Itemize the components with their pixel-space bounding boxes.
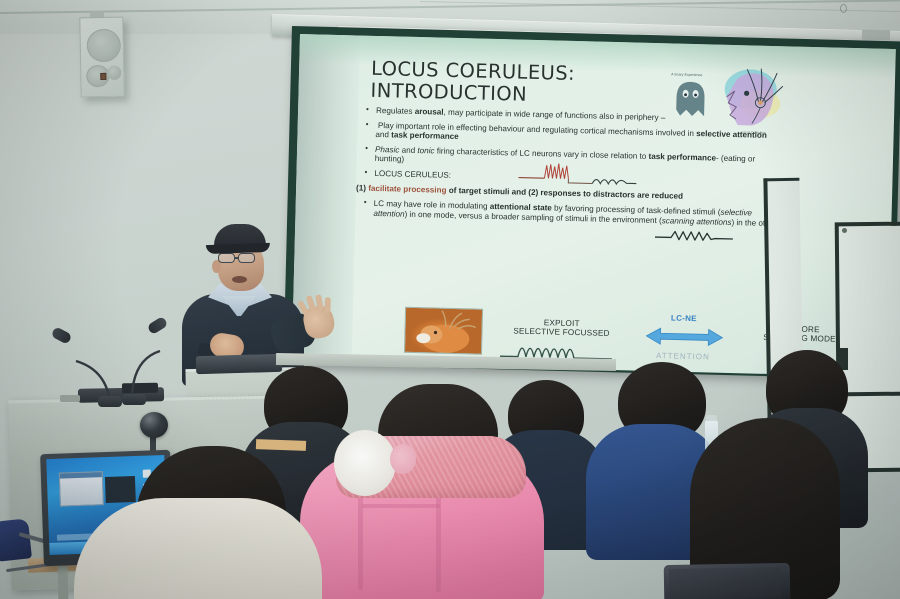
speaker-woofer-icon — [87, 29, 122, 63]
red-highlight-text: facilitate processing — [368, 183, 446, 194]
slide-bullet-list-continued: LC may have role in modulating attention… — [361, 199, 779, 229]
desk-leg — [58, 566, 69, 599]
band-label-exploit: EXPLOIT SELECTIVE FOCUSSED — [496, 317, 626, 338]
presentation-slide: A Scary Experience Locus Coeruleus LOCUS… — [352, 58, 783, 369]
microphone-gooseneck-2 — [132, 351, 160, 400]
screen-rail-end-cap — [862, 30, 890, 41]
laptop-open-window — [59, 471, 104, 507]
coat-seam — [358, 486, 363, 590]
bench-wood-edge — [256, 439, 306, 451]
deer-head-photo — [404, 307, 483, 355]
band-label-lc-ne: LC-NE — [649, 313, 719, 324]
bullet-modulating: LC may have role in modulating attention… — [361, 199, 779, 229]
speaker-led-indicator — [100, 73, 106, 80]
band-faded-attention: ATTENTION — [618, 350, 748, 362]
glasses-left-lens-icon — [218, 253, 235, 263]
glasses-bridge-icon — [235, 257, 239, 259]
double-headed-horizontal-arrow — [644, 325, 725, 349]
lecture-hall-photo: A Scary Experience Locus Coeruleus LOCUS… — [0, 0, 900, 599]
microphone-base-2 — [122, 394, 146, 405]
coat-seam — [362, 504, 440, 508]
corner-graphic-label-left: A Scary Experience — [671, 72, 702, 77]
wall-mounted-loudspeaker — [79, 17, 124, 98]
ceiling-tile-vent-icon — [840, 4, 847, 13]
glasses-right-lens-icon — [238, 253, 255, 263]
projection-screen-surface: A Scary Experience Locus Coeruleus LOCUS… — [292, 34, 896, 377]
tonic-squiggle-right — [655, 227, 733, 245]
dome-camera — [140, 412, 168, 438]
coat-fur-hood-white-section — [334, 430, 396, 496]
whiteboard-magnet-icon — [842, 228, 847, 233]
podium-laptop-lid — [196, 354, 282, 374]
band-exploit-line2: SELECTIVE FOCUSSED — [496, 326, 626, 338]
lecturer-mouth — [232, 276, 247, 283]
blue-chair — [0, 518, 32, 561]
phasic-burst-waveform — [518, 162, 639, 187]
speaker-tweeter-icon — [107, 66, 121, 80]
scary-experience-neural-head-diagram: A Scary Experience Locus Coeruleus — [668, 61, 788, 138]
coat-seam — [436, 482, 441, 592]
laptop-media-panel — [105, 476, 136, 503]
water-bottle-cap — [706, 415, 717, 421]
student-ear-pink-coat — [390, 444, 416, 474]
laptop-window-titlebar — [60, 472, 102, 478]
microphone-base-1 — [98, 396, 122, 407]
laptop-screen-dark — [669, 567, 782, 599]
open-laptop-bottom-right — [664, 563, 791, 599]
